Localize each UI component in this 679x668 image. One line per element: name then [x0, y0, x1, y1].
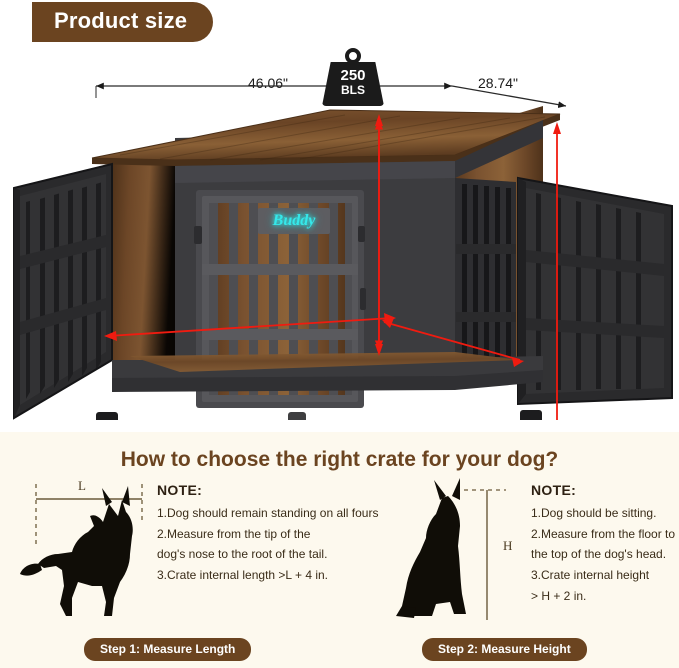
right-note-line: 3.Crate internal height	[531, 565, 675, 586]
right-note-heading: NOTE:	[531, 482, 675, 498]
weight-unit: BLS	[322, 84, 384, 97]
height-marker: H	[503, 538, 512, 554]
crate-illustration: 250 BLS Buddy 46.06" 28.74" 28.82" 31.89…	[0, 60, 679, 420]
dim-line-inner-length	[104, 313, 396, 341]
product-size-section: Product size	[0, 0, 679, 432]
weight-capacity-badge: 250 BLS	[322, 50, 384, 106]
dim-label-inner-height: 28.82"	[384, 202, 426, 218]
right-note-line: 2.Measure from the floor to	[531, 524, 675, 545]
product-size-badge: Product size	[32, 2, 213, 42]
left-note: NOTE: 1.Dog should remain standing on al…	[157, 482, 378, 586]
step-2-label: Step 2: Measure Height	[422, 638, 587, 661]
left-note-heading: NOTE:	[157, 482, 378, 498]
weight-icon	[345, 48, 361, 64]
right-note-line: the top of the dog's head.	[531, 544, 675, 565]
caster-wheel	[518, 410, 544, 420]
dim-label-inner-length: 44.09"	[340, 300, 382, 316]
dim-line-inner-height-vert	[375, 114, 383, 356]
dim-label-depth: 28.74"	[478, 75, 518, 91]
step-1-label: Step 1: Measure Length	[84, 638, 251, 661]
right-note: NOTE: 1.Dog should be sitting. 2.Measure…	[531, 482, 675, 606]
right-note-line: 1.Dog should be sitting.	[531, 503, 675, 524]
section-title: How to choose the right crate for your d…	[0, 448, 679, 472]
nameplate: Buddy	[258, 208, 330, 234]
dim-line-door-height	[553, 122, 561, 420]
product-infographic: Product size	[0, 0, 679, 668]
left-note-line: 2.Measure from the tip of the	[157, 524, 378, 545]
right-note-line: > H + 2 in.	[531, 586, 675, 607]
dim-label-door-height: 31.89"	[562, 232, 604, 248]
weight-badge-text: 250 BLS	[322, 68, 384, 96]
dim-label-inner-depth: 26.81"	[418, 332, 460, 348]
left-note-line: 3.Crate internal length >L + 4 in.	[157, 565, 378, 586]
caster-wheel	[288, 412, 306, 420]
length-marker: L	[78, 478, 86, 494]
left-note-line: 1.Dog should remain standing on all four…	[157, 503, 378, 524]
caster-wheel	[94, 412, 120, 420]
standing-dog-illustration	[14, 474, 164, 622]
weight-value: 250	[322, 68, 384, 84]
nameplate-text: Buddy	[273, 212, 316, 230]
left-note-line: dog's nose to the root of the tail.	[157, 544, 378, 565]
dim-label-width: 46.06"	[248, 75, 288, 91]
how-to-choose-section: How to choose the right crate for your d…	[0, 432, 679, 668]
